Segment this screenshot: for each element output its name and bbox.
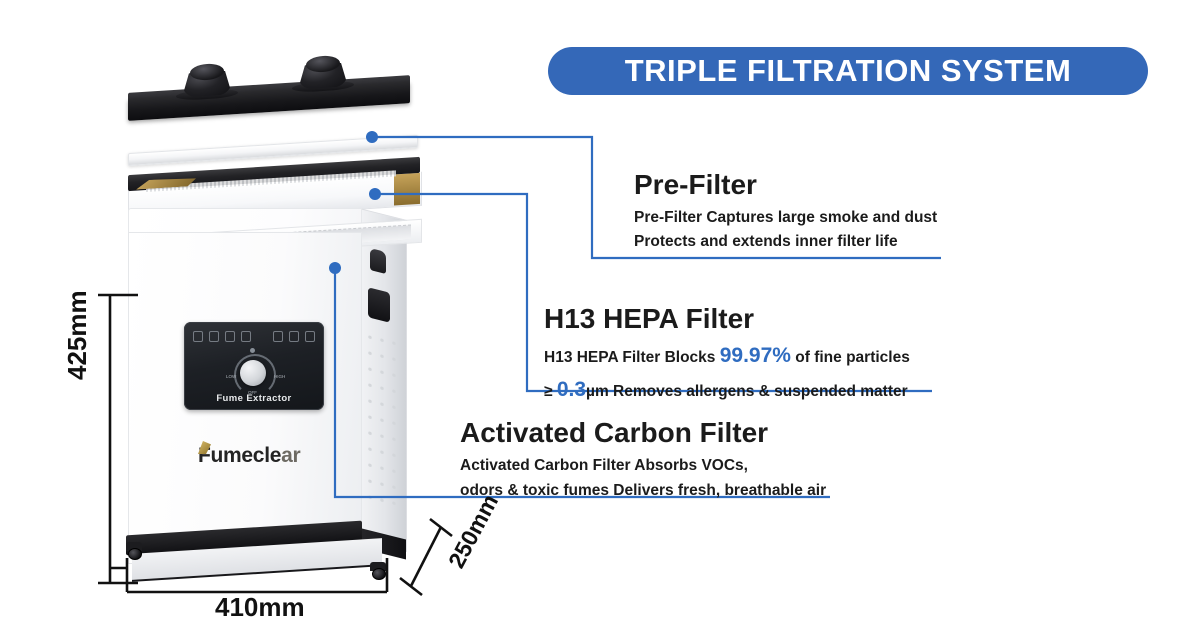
hepa-line1-suffix: of fine particles	[791, 349, 910, 366]
leader-dot-pre-filter	[366, 131, 378, 143]
dimension-label-width: 410mm	[215, 592, 305, 623]
callout-line1-pre-filter: Pre-Filter Captures large smoke and dust	[634, 206, 937, 230]
leader-dot-carbon-filter	[329, 262, 341, 274]
title-banner: TRIPLE FILTRATION SYSTEM	[548, 47, 1148, 95]
callout-line2-hepa-filter: ≥ 0.3µm Removes allergens & suspended ma…	[544, 373, 910, 407]
infographic-canvas: LOW HIGH OFF Fume Extractor Fumeclear	[0, 0, 1200, 628]
hepa-line1-prefix: H13 HEPA Filter Blocks	[544, 349, 720, 366]
hepa-particle-size-value: 0.3	[557, 378, 586, 401]
callout-title-carbon-filter: Activated Carbon Filter	[460, 418, 826, 447]
hepa-efficiency-value: 99.97%	[720, 344, 791, 367]
callout-pre-filter: Pre-Filter Pre-Filter Captures large smo…	[634, 170, 937, 254]
callout-line2-carbon-filter: odors & toxic fumes Delivers fresh, brea…	[460, 479, 826, 504]
callout-line1-hepa-filter: H13 HEPA Filter Blocks 99.97% of fine pa…	[544, 339, 910, 373]
dimension-label-height: 425mm	[62, 290, 93, 380]
hepa-line2-prefix: ≥	[544, 383, 557, 400]
callout-line1-carbon-filter: Activated Carbon Filter Absorbs VOCs,	[460, 454, 826, 479]
callout-title-hepa-filter: H13 HEPA Filter	[544, 304, 910, 333]
callout-title-pre-filter: Pre-Filter	[634, 170, 937, 199]
callout-hepa-filter: H13 HEPA Filter H13 HEPA Filter Blocks 9…	[544, 304, 910, 407]
callout-carbon-filter: Activated Carbon Filter Activated Carbon…	[460, 418, 826, 504]
callout-line2-pre-filter: Protects and extends inner filter life	[634, 230, 937, 254]
hepa-line2-suffix: µm Removes allergens & suspended matter	[586, 383, 908, 400]
dimension-height-line	[98, 295, 138, 583]
dimension-width-line	[110, 558, 387, 592]
leader-dot-hepa-filter	[369, 188, 381, 200]
banner-title: TRIPLE FILTRATION SYSTEM	[625, 53, 1072, 89]
